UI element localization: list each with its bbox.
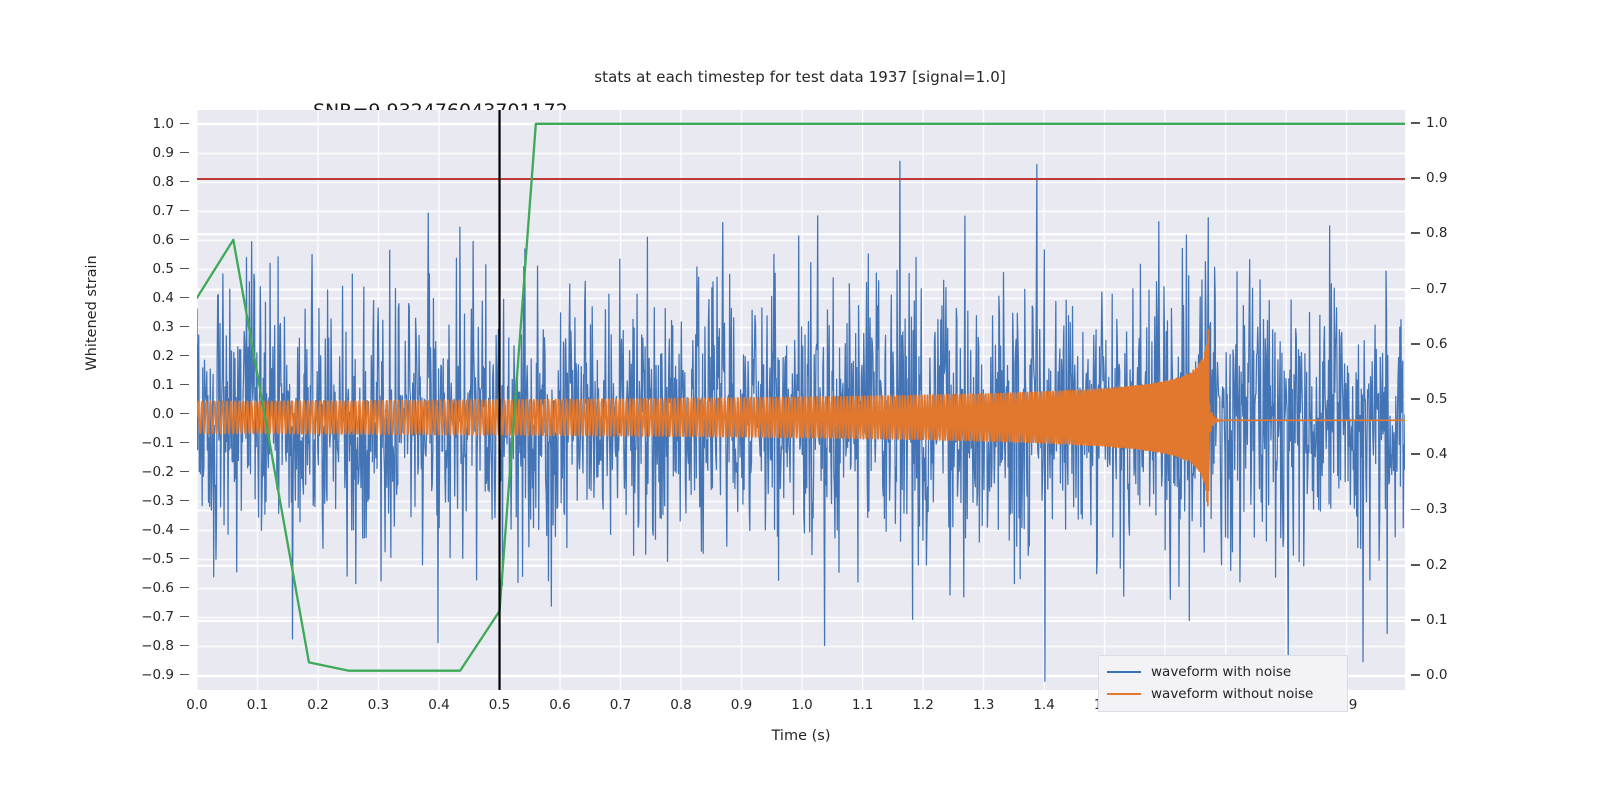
y-tick-right: 0.8: [1411, 225, 1447, 241]
x-tick: 0.5: [470, 697, 530, 713]
y-tick-left: 0.2: [153, 348, 189, 364]
y-tick-right: 0.7: [1411, 281, 1447, 297]
y-tick-left: −0.7: [141, 609, 189, 625]
y-axis-label-left: Whitened strain: [84, 213, 100, 413]
x-tick: 0.7: [591, 697, 651, 713]
figure-canvas: stats at each timestep for test data 193…: [0, 0, 1600, 800]
plot-svg: [197, 110, 1405, 690]
legend-label: waveform with noise: [1151, 664, 1291, 680]
y-tick-right: 0.3: [1411, 501, 1447, 517]
y-tick-left: 0.8: [153, 174, 189, 190]
y-tick-left: −0.2: [141, 464, 189, 480]
x-tick: 0.8: [651, 697, 711, 713]
y-tick-right: 0.2: [1411, 557, 1447, 573]
y-tick-left: −0.3: [141, 493, 189, 509]
x-tick: 0.3: [349, 697, 409, 713]
x-tick: 0.4: [409, 697, 469, 713]
y-tick-left: 0.0: [153, 406, 189, 422]
x-tick: 0.0: [167, 697, 227, 713]
y-tick-left: 0.9: [153, 145, 189, 161]
legend: waveform with noisewaveform without nois…: [1098, 655, 1348, 712]
x-tick: 1.1: [833, 697, 893, 713]
y-tick-right: 0.5: [1411, 391, 1447, 407]
y-tick-left: −0.6: [141, 580, 189, 596]
y-tick-left: 1.0: [153, 116, 189, 132]
x-tick: 1.4: [1014, 697, 1074, 713]
y-tick-right: 0.1: [1411, 612, 1447, 628]
legend-swatch-icon: [1107, 671, 1141, 673]
y-tick-left: 0.6: [153, 232, 189, 248]
x-tick: 0.1: [228, 697, 288, 713]
y-tick-left: −0.4: [141, 522, 189, 538]
legend-item[interactable]: waveform without noise: [1107, 683, 1339, 705]
x-tick: 1.2: [893, 697, 953, 713]
legend-swatch-icon: [1107, 693, 1141, 695]
y-tick-right: 0.4: [1411, 446, 1447, 462]
legend-label: waveform without noise: [1151, 686, 1313, 702]
y-tick-right: 0.0: [1411, 667, 1447, 683]
y-tick-left: 0.7: [153, 203, 189, 219]
y-tick-right: 0.6: [1411, 336, 1447, 352]
x-tick: 0.9: [712, 697, 772, 713]
y-tick-right: 1.0: [1411, 115, 1447, 131]
x-tick: 0.6: [530, 697, 590, 713]
x-tick: 0.2: [288, 697, 348, 713]
x-axis-label: Time (s): [197, 728, 1405, 744]
x-tick: 1.0: [772, 697, 832, 713]
y-tick-left: −0.9: [141, 667, 189, 683]
y-tick-left: 0.5: [153, 261, 189, 277]
plot-area: [197, 110, 1405, 690]
y-tick-left: −0.8: [141, 638, 189, 654]
page-title: stats at each timestep for test data 193…: [0, 68, 1600, 86]
legend-item[interactable]: waveform with noise: [1107, 661, 1339, 683]
y-tick-right: 0.9: [1411, 170, 1447, 186]
y-tick-left: −0.5: [141, 551, 189, 567]
y-tick-left: 0.4: [153, 290, 189, 306]
y-tick-left: 0.3: [153, 319, 189, 335]
y-tick-left: −0.1: [141, 435, 189, 451]
y-tick-left: 0.1: [153, 377, 189, 393]
x-tick: 1.3: [954, 697, 1014, 713]
